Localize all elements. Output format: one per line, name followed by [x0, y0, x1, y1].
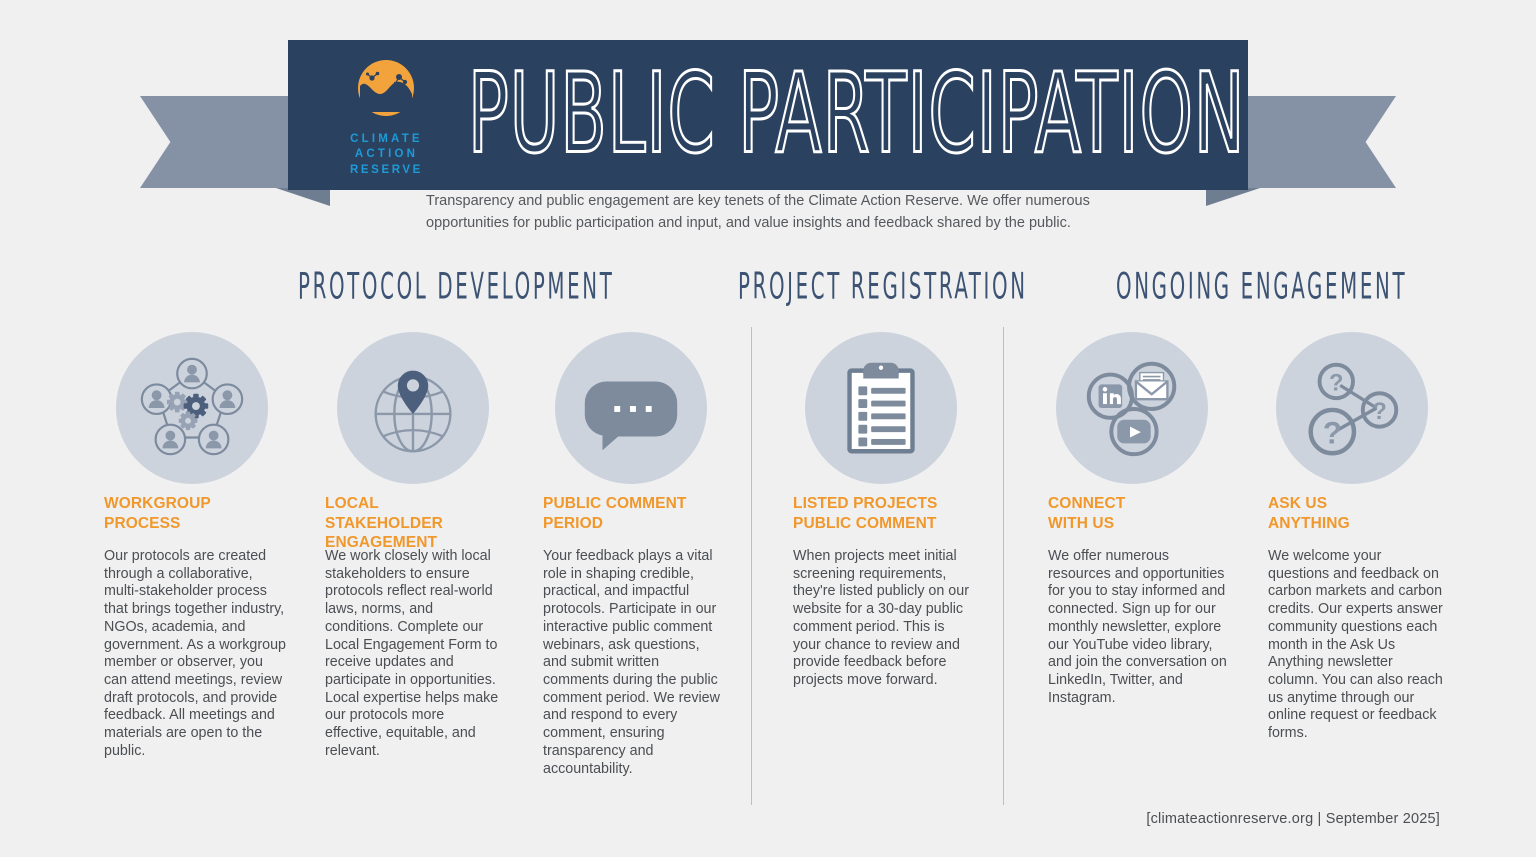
card-body: Your feedback plays a vital role in shap…	[543, 548, 725, 778]
ribbon-fold-right	[1206, 188, 1260, 206]
section-divider-2	[1003, 327, 1004, 805]
card-body: We work closely with local stakeholders …	[325, 548, 505, 761]
section-header-ongoing-engagement: ONGOING ENGAGEMENT	[1116, 265, 1407, 307]
card-body: We welcome your questions and feedback o…	[1268, 548, 1446, 743]
card-listed-projects-public-comment: LISTED PROJECTS PUBLIC COMMENT When proj…	[793, 332, 957, 484]
speech-bubble-ellipsis-icon	[555, 332, 707, 484]
card-body: When projects meet initial screening req…	[793, 548, 975, 690]
ribbon-fold-left	[276, 188, 330, 206]
workgroup-network-gears-icon	[116, 332, 268, 484]
card-title: CONNECT WITH US	[1048, 494, 1125, 533]
question-mark-network-icon: ? ? ?	[1276, 332, 1428, 484]
section-header-protocol-development: PROTOCOL DEVELOPMENT	[298, 265, 614, 307]
intro-paragraph: Transparency and public engagement are k…	[426, 190, 1126, 235]
card-body: Our protocols are created through a coll…	[104, 548, 286, 761]
card-local-stakeholder-engagement: LOCAL STAKEHOLDER ENGAGEMENT We work clo…	[325, 332, 489, 484]
page-title: PUBLIC PARTICIPATION	[468, 60, 1270, 171]
card-title: ASK US ANYTHING	[1268, 494, 1350, 533]
card-body: We offer numerous resources and opportun…	[1048, 548, 1230, 707]
card-title: LOCAL STAKEHOLDER ENGAGEMENT	[325, 494, 489, 553]
logo-wordmark: CLIMATE ACTION RESERVE	[350, 132, 423, 179]
footer-source: [climateactionreserve.org | September 20…	[1146, 811, 1440, 827]
section-divider-1	[751, 327, 752, 805]
svg-text:?: ?	[1323, 415, 1342, 450]
banner: CLIMATE ACTION RESERVE PUBLIC PARTICIPAT…	[288, 40, 1248, 190]
card-title: WORKGROUP PROCESS	[104, 494, 211, 533]
card-ask-us-anything: ? ? ? ASK US ANYTHING We welcome your qu…	[1268, 332, 1428, 484]
svg-text:?: ?	[1372, 399, 1386, 425]
card-title: LISTED PROJECTS PUBLIC COMMENT	[793, 494, 937, 533]
svg-text:?: ?	[1329, 370, 1343, 396]
logo: CLIMATE ACTION RESERVE	[350, 52, 423, 179]
card-connect-with-us: CONNECT WITH US We offer numerous resour…	[1048, 332, 1208, 484]
card-workgroup-process: WORKGROUP PROCESS Our protocols are crea…	[104, 332, 268, 484]
clipboard-checklist-icon	[805, 332, 957, 484]
logo-line-reserve: RESERVE	[350, 163, 423, 179]
infographic-canvas: CLIMATE ACTION RESERVE PUBLIC PARTICIPAT…	[0, 0, 1536, 857]
social-media-linkedin-email-youtube-icon	[1056, 332, 1208, 484]
header-ribbon: CLIMATE ACTION RESERVE PUBLIC PARTICIPAT…	[0, 40, 1536, 190]
climate-action-reserve-globe-icon	[350, 52, 422, 124]
globe-map-pin-icon	[337, 332, 489, 484]
logo-line-action: ACTION	[350, 147, 423, 163]
section-header-project-registration: PROJECT REGISTRATION	[738, 265, 1028, 307]
card-title: PUBLIC COMMENT PERIOD	[543, 494, 686, 533]
logo-line-climate: CLIMATE	[350, 132, 423, 148]
card-public-comment-period: PUBLIC COMMENT PERIOD Your feedback play…	[543, 332, 707, 484]
